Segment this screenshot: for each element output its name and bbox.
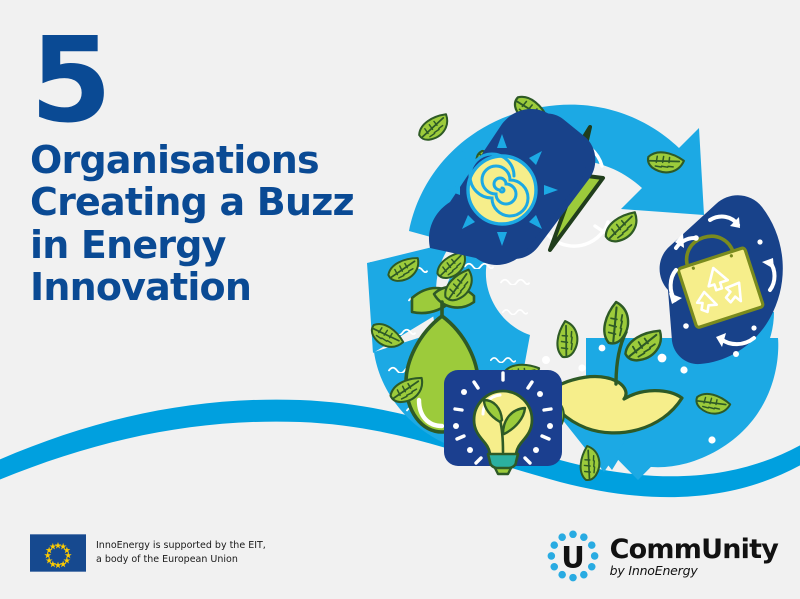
headline-block: 5 Organisations Creating a Buzz in Energ…	[30, 26, 390, 309]
big-number: 5	[30, 26, 390, 135]
community-mark-icon: U	[544, 528, 602, 586]
community-logo[interactable]: U CommUnity by InnoEnergy	[544, 528, 778, 586]
lightbulb-tile	[444, 370, 562, 474]
community-name: CommUnity	[610, 536, 778, 563]
recycling-loop-illustration	[350, 70, 800, 490]
community-tagline: by InnoEnergy	[610, 565, 778, 578]
eu-support-block: InnoEnergy is supported by the EIT, a bo…	[30, 534, 266, 572]
poster-canvas: 5 Organisations Creating a Buzz in Energ…	[0, 0, 800, 599]
page-title: Organisations Creating a Buzz in Energy …	[30, 139, 375, 309]
logo-letter-u: U	[561, 541, 585, 575]
european-union-flag	[30, 534, 86, 572]
community-wordmark: CommUnity by InnoEnergy	[610, 536, 778, 578]
eu-support-text: InnoEnergy is supported by the EIT, a bo…	[96, 539, 266, 567]
